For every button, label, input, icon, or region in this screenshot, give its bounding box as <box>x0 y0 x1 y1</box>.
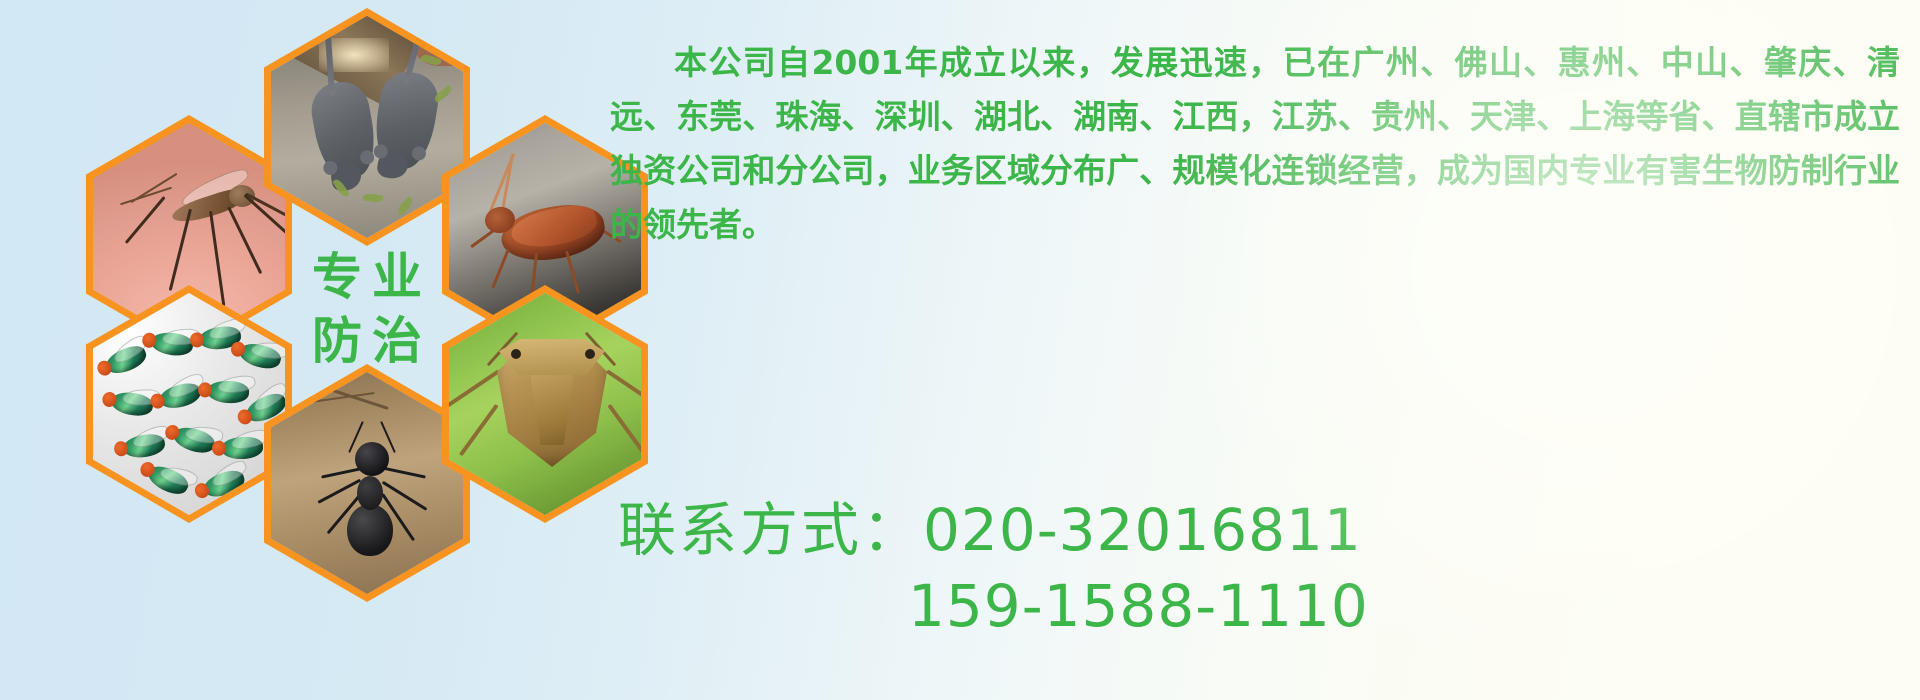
hex-tile-stinkbug[interactable] <box>442 285 648 523</box>
flies-photo <box>93 293 285 515</box>
contact-secondary-line: 159-1588-1110 <box>618 568 1718 644</box>
slogan-line-1: 专业 <box>302 245 432 309</box>
slogan-line-2: 防治 <box>302 309 432 373</box>
hex-tile-flies[interactable] <box>86 285 292 523</box>
hexagon-photo-cluster: 专业 防治 <box>86 0 586 580</box>
hex-tile-slogan: 专业 防治 <box>264 190 470 428</box>
hex-tile-slogan-inner: 专业 防治 <box>271 198 463 420</box>
stinkbug-photo <box>449 293 641 515</box>
contact-primary-line: 联系方式：020-32016811 <box>618 492 1718 568</box>
hex-tile-flies-inner <box>93 293 285 515</box>
pest-control-banner: 专业 防治 本公司自2001年成立以来，发展迅速，已在广州、佛山、惠州、中山、肇… <box>0 0 1920 700</box>
contact-block: 联系方式：020-32016811 159-1588-1110 <box>618 492 1718 644</box>
phone-primary[interactable]: 020-32016811 <box>923 496 1362 564</box>
phone-secondary[interactable]: 159-1588-1110 <box>908 572 1369 640</box>
hex-tile-stinkbug-inner <box>449 293 641 515</box>
contact-label: 联系方式： <box>618 496 923 564</box>
company-copy-block: 本公司自2001年成立以来，发展迅速，已在广州、佛山、惠州、中山、肇庆、清远、东… <box>610 36 1900 252</box>
company-description-paragraph: 本公司自2001年成立以来，发展迅速，已在广州、佛山、惠州、中山、肇庆、清远、东… <box>610 36 1900 252</box>
